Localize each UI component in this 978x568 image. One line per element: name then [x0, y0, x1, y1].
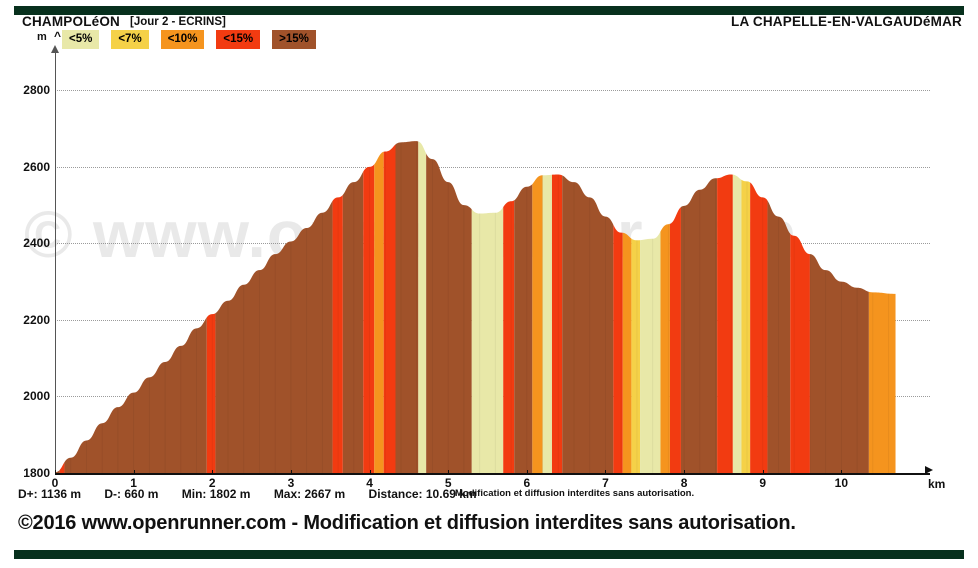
stat-min: Min: 1802 m — [182, 487, 251, 501]
stat-ascent: D+: 1136 m — [18, 487, 81, 501]
chart-plot-area: © www.openrunner.com 1800200022002400260… — [0, 0, 978, 500]
elevation-profile-page: CHAMPOLéON [Jour 2 - ECRINS] LA CHAPELLE… — [0, 0, 978, 568]
x-axis-unit-label: km — [928, 477, 945, 491]
x-tick-mark-5 — [448, 470, 449, 475]
x-tick-mark-0 — [55, 470, 56, 475]
footer-copyright: ©2016 www.openrunner.com - Modification … — [18, 512, 796, 535]
x-axis-ticks: 012345678910 — [0, 0, 978, 500]
x-tick-mark-10 — [841, 470, 842, 475]
route-stats: D+: 1136 m D-: 660 m Min: 1802 m Max: 26… — [18, 487, 497, 501]
bottom-rule — [14, 550, 964, 559]
x-tick-mark-7 — [605, 470, 606, 475]
x-tick-mark-3 — [291, 470, 292, 475]
x-tick-label-10: 10 — [835, 476, 848, 490]
x-tick-label-9: 9 — [759, 476, 766, 490]
x-tick-mark-4 — [370, 470, 371, 475]
stat-descent: D-: 660 m — [104, 487, 158, 501]
stat-max: Max: 2667 m — [274, 487, 345, 501]
x-tick-mark-2 — [212, 470, 213, 475]
x-tick-mark-1 — [134, 470, 135, 475]
x-tick-mark-6 — [527, 470, 528, 475]
x-tick-mark-9 — [763, 470, 764, 475]
copyright-notice: Modification et diffusion interdites san… — [455, 488, 694, 499]
x-tick-mark-8 — [684, 470, 685, 475]
